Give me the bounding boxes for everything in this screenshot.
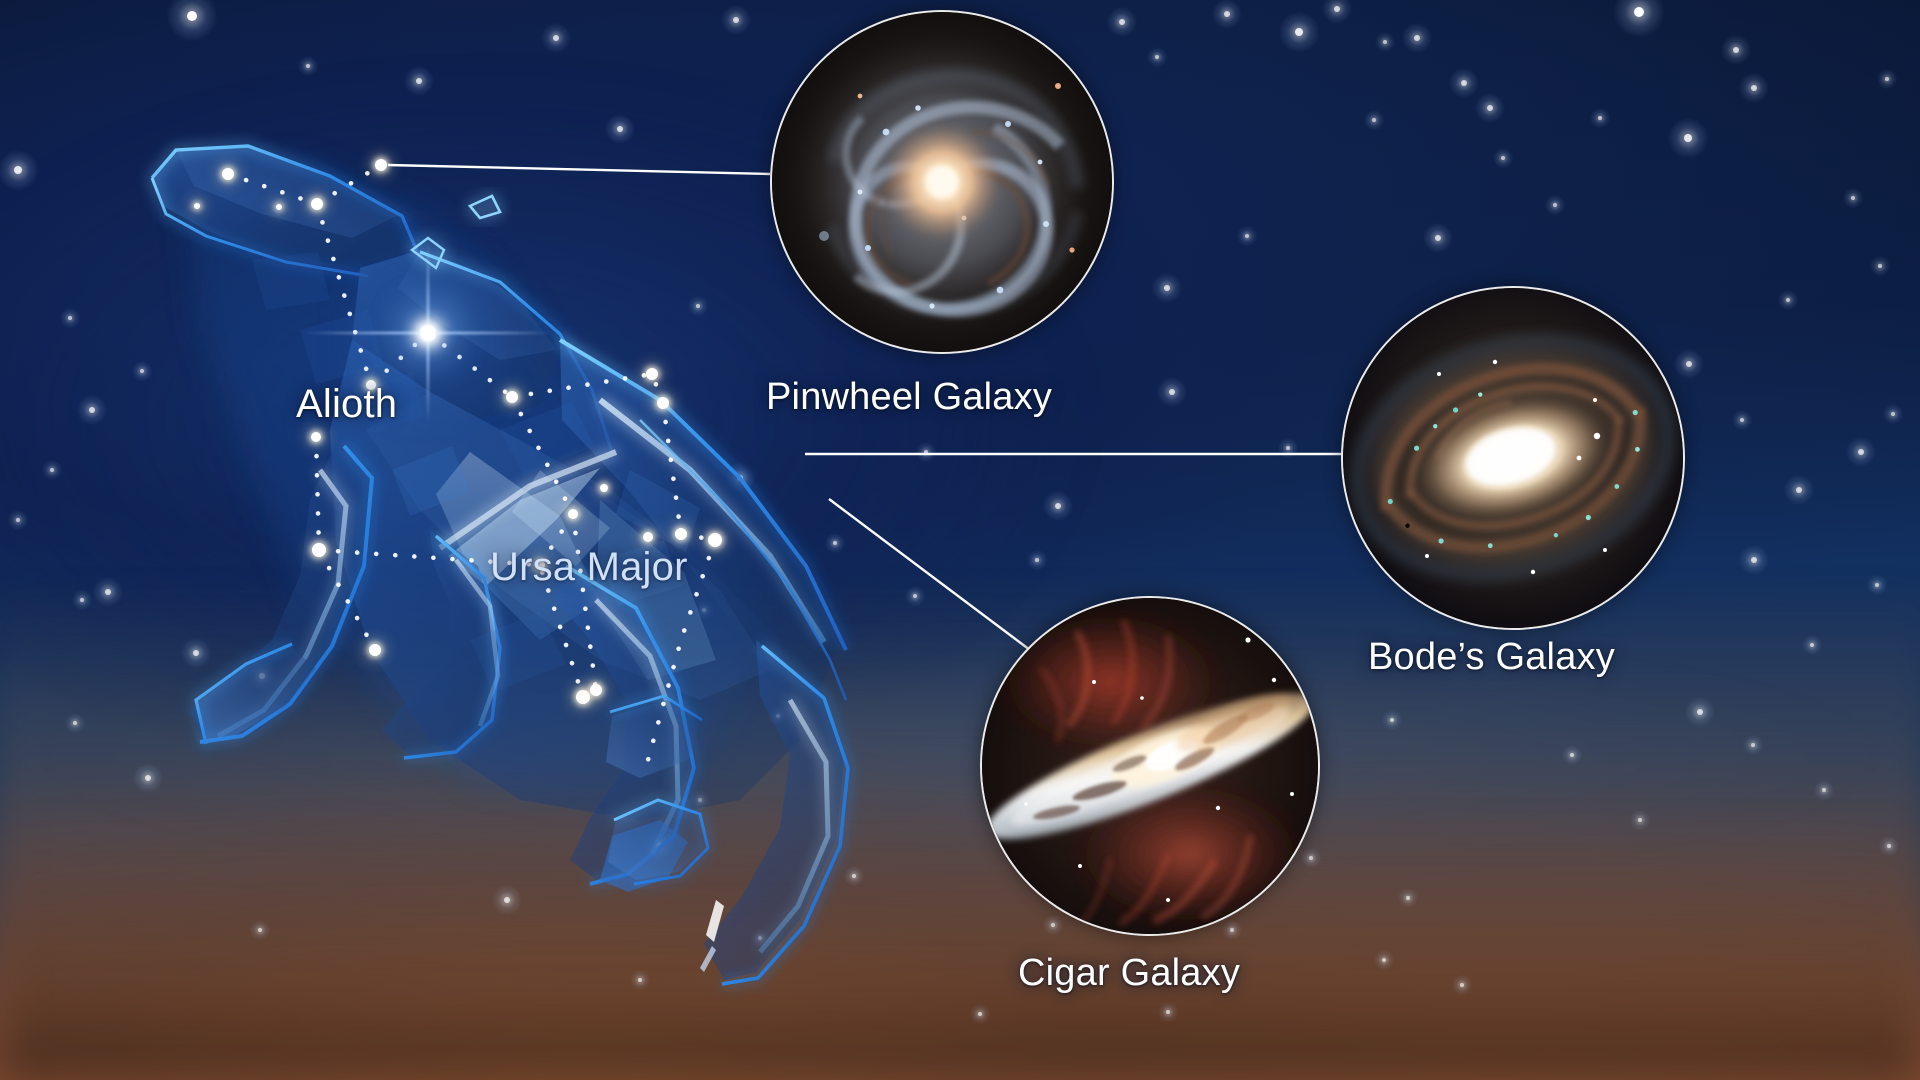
- constellation-star: [506, 391, 518, 403]
- pinwheel-galaxy-image: [772, 12, 1112, 352]
- star-label-alioth: Alioth: [296, 382, 397, 427]
- constellation-scene: Pinwheel Galaxy: [0, 0, 1920, 1080]
- cigar-galaxy-image: [982, 598, 1318, 934]
- constellation-star: [675, 528, 687, 540]
- constellation-star: [600, 484, 608, 492]
- constellation-star: [194, 203, 200, 209]
- callout-label-cigar: Cigar Galaxy: [1018, 952, 1240, 995]
- constellation-star: [312, 543, 326, 557]
- constellation-star: [576, 690, 590, 704]
- constellation-star: [708, 533, 722, 547]
- constellation-star: [657, 397, 669, 409]
- callout-pinwheel-galaxy[interactable]: [770, 10, 1114, 354]
- constellation-label-ursa-major: Ursa Major: [490, 545, 688, 590]
- constellation-star: [311, 198, 323, 210]
- callout-cigar-galaxy[interactable]: [980, 596, 1320, 936]
- constellation-star: [311, 432, 321, 442]
- constellation-star: [590, 684, 602, 696]
- constellation-star: [643, 532, 653, 542]
- constellation-star: [419, 324, 437, 342]
- constellation-star: [375, 159, 387, 171]
- constellation-star: [646, 368, 658, 380]
- bodes-galaxy-image: [1343, 288, 1683, 628]
- constellation-star: [222, 168, 234, 180]
- constellation-star: [568, 509, 578, 519]
- constellation-star: [276, 204, 282, 210]
- constellation-star: [369, 644, 381, 656]
- callout-bodes-galaxy[interactable]: [1341, 286, 1685, 630]
- callout-label-pinwheel: Pinwheel Galaxy: [766, 376, 1052, 419]
- callout-label-bodes: Bode’s Galaxy: [1368, 636, 1615, 679]
